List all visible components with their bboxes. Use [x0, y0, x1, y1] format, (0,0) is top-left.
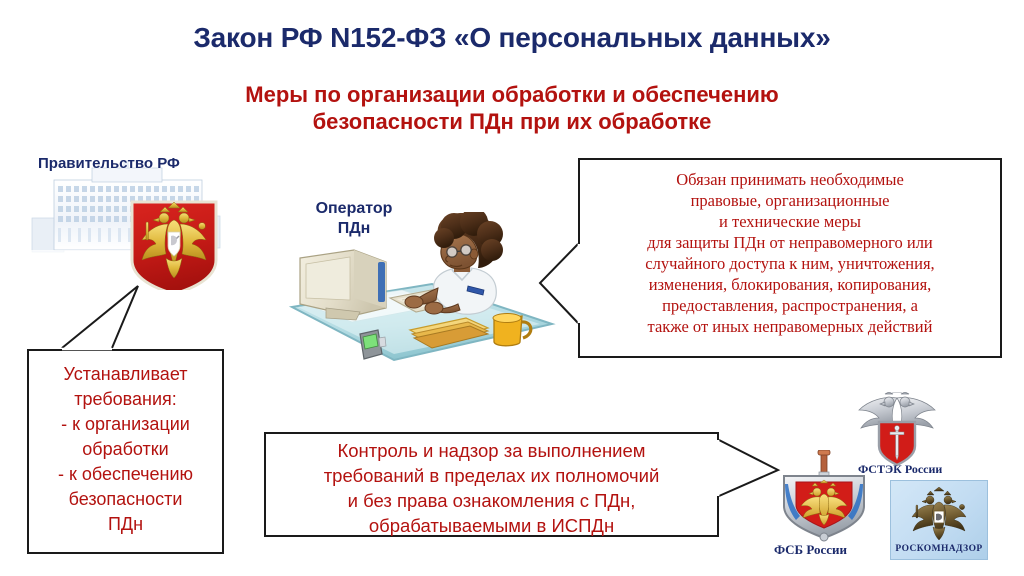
callout-government-line-2: требования:: [29, 387, 222, 412]
operator-label: Оператор ПДн: [299, 199, 409, 239]
callout-operator-line-6: изменения, блокирования, копирования,: [588, 274, 992, 295]
callout-operator-line-4: для защиты ПДн от неправомерного или: [588, 232, 992, 253]
callout-government-line-4: обработки: [29, 437, 222, 462]
government-building-graphic: [30, 160, 238, 290]
regulator-emblems-group: ФСТЭК России: [770, 392, 1020, 568]
callout-supervision-line-4: обрабатываемыми в ИСПДн: [266, 513, 717, 538]
callout-government-line-5: - к обеспечению: [29, 462, 222, 487]
callout-operator-line-7: предоставления, распространения, а: [588, 295, 992, 316]
russian-coat-of-arms-icon: [132, 202, 216, 290]
callout-tail-government: [62, 286, 138, 348]
callout-supervision: Контроль и надзор за выполнением требова…: [264, 432, 719, 537]
subtitle-line-2: безопасности ПДн при их обработке: [162, 108, 862, 135]
fsb-emblem-icon: [776, 450, 872, 542]
callout-operator-line-3: и технические меры: [588, 211, 992, 232]
callout-operator-line-8: также от иных неправомерных действий: [588, 316, 992, 337]
roskomnadzor-emblem: РОСКОМНАДЗОР: [890, 480, 988, 560]
government-label: Правительство РФ: [38, 155, 180, 172]
operator-label-line-2: ПДн: [338, 220, 371, 237]
fsb-caption: ФСБ России: [774, 542, 847, 558]
callout-operator-line-5: случайного доступа к ним, уничтожения,: [588, 253, 992, 274]
callout-operator-line-1: Обязан принимать необходимые: [588, 169, 992, 190]
slide-canvas: Закон РФ N152-ФЗ «О персональных данных»…: [0, 0, 1024, 576]
callout-supervision-line-1: Контроль и надзор за выполнением: [266, 438, 717, 463]
subtitle-line-1: Меры по организации обработки и обеспече…: [245, 82, 778, 107]
page-title: Закон РФ N152-ФЗ «О персональных данных»: [0, 22, 1024, 54]
roskomnadzor-caption: РОСКОМНАДЗОР: [891, 544, 987, 554]
callout-supervision-line-2: требований в пределах их полномочий: [266, 463, 717, 488]
callout-government-line-1: Устанавливает: [29, 362, 222, 387]
callout-operator-line-2: правовые, организационные: [588, 190, 992, 211]
callout-government-requirements: Устанавливает требования: - к организаци…: [27, 349, 224, 554]
callout-government-line-3: - к организации: [29, 412, 222, 437]
government-illustration: [30, 160, 238, 290]
page-subtitle: Меры по организации обработки и обеспече…: [162, 81, 862, 135]
operator-label-line-1: Оператор: [316, 200, 393, 217]
roskomnadzor-eagle-icon: [907, 487, 971, 541]
callout-operator-duties: Обязан принимать необходимые правовые, о…: [578, 158, 1002, 358]
callout-supervision-line-3: и без права ознакомления с ПДн,: [266, 488, 717, 513]
callout-government-line-7: ПДн: [29, 512, 222, 537]
callout-government-line-6: безопасности: [29, 487, 222, 512]
